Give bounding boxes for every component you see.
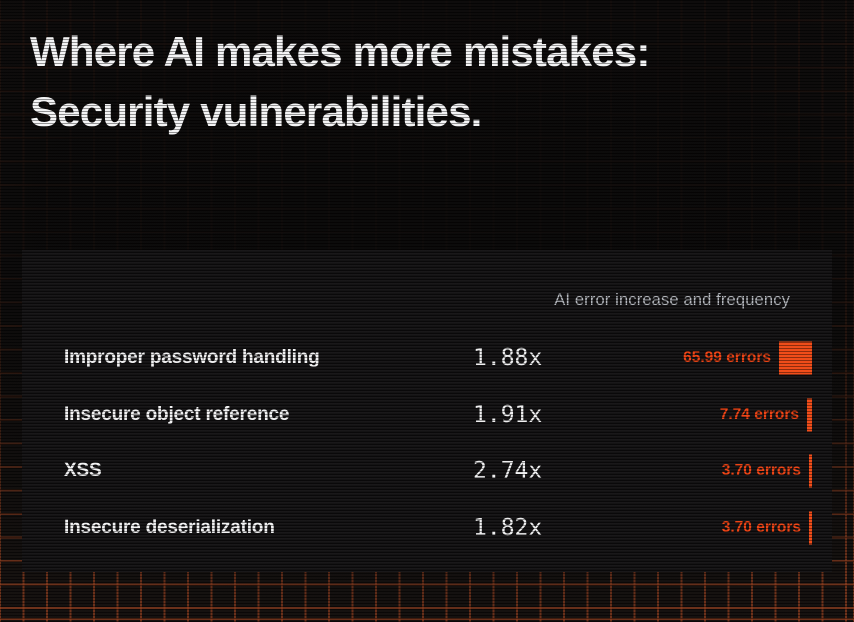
column-header: AI error increase and frequency <box>554 291 790 310</box>
row-error-count-label: 7.74 errors <box>720 395 799 435</box>
row-frequency-bar <box>809 455 812 488</box>
row-multiplier-value: 1.91x <box>473 395 542 435</box>
slide-canvas: Where AI makes more mistakes: Security v… <box>0 0 854 622</box>
row-frequency-bar <box>807 399 812 432</box>
row-multiplier-value: 2.74x <box>473 451 542 491</box>
table-row: Insecure object reference1.91x7.74 error… <box>22 395 832 435</box>
row-multiplier-value: 1.88x <box>473 338 542 378</box>
chart-card: AI error increase and frequency Improper… <box>22 250 832 572</box>
table-row: Improper password handling1.88x65.99 err… <box>22 338 832 378</box>
page-title: Where AI makes more mistakes: Security v… <box>30 22 820 142</box>
row-error-count-label: 3.70 errors <box>722 451 801 491</box>
row-error-count-label: 65.99 errors <box>683 338 771 378</box>
row-category-label: Insecure deserialization <box>64 508 275 548</box>
row-multiplier-value: 1.82x <box>473 508 542 548</box>
row-frequency-bar <box>779 342 812 375</box>
row-category-label: Insecure object reference <box>64 395 289 435</box>
table-row: XSS2.74x3.70 errors <box>22 451 832 491</box>
row-category-label: Improper password handling <box>64 338 320 378</box>
row-frequency-bar <box>809 512 812 545</box>
row-error-count-label: 3.70 errors <box>722 508 801 548</box>
table-row: Insecure deserialization1.82x3.70 errors <box>22 508 832 548</box>
row-category-label: XSS <box>64 451 101 491</box>
